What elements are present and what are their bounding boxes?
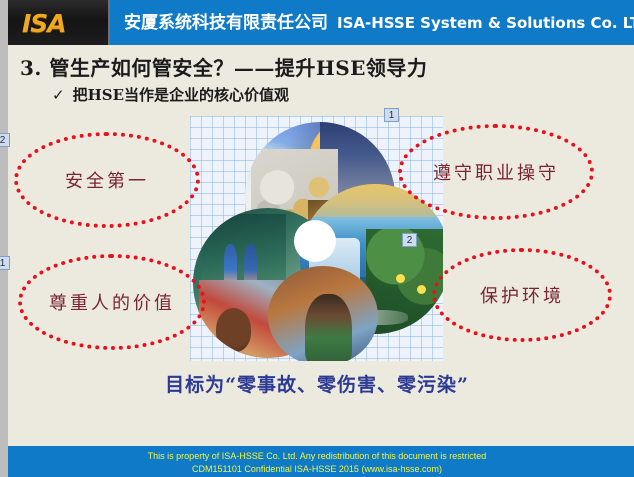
goal-caption: 目标为“零事故、零伤害、零污染”	[0, 370, 634, 397]
checkmark-icon: ✓	[52, 86, 65, 104]
footer-document-line: CDM151101 Confidential ISA-HSSE 2015 (ww…	[0, 464, 634, 474]
callout-respect-people-label: 尊重人的价值	[49, 289, 175, 315]
callout-protect-environment: 保护环境	[432, 248, 612, 342]
page-subtitle-text: 把HSE当作是企业的核心价值观	[73, 86, 289, 104]
slide-footer: This is property of ISA-HSSE Co. Ltd. An…	[0, 446, 634, 477]
logo-panel: ISA	[0, 0, 110, 45]
left-edge-gutter	[0, 0, 8, 477]
isa-logo: ISA	[22, 9, 66, 38]
slide-header: ISA 安厦系统科技有限责任公司ISA-HSSE System & Soluti…	[0, 0, 634, 45]
page-title: 3. 管生产如何管安全？——提升HSE领导力	[20, 52, 427, 81]
company-title-cn: 安厦系统科技有限责任公司	[124, 13, 328, 33]
animation-badge-image-right[interactable]: 2	[402, 233, 417, 247]
animation-badge-image-top[interactable]: 1	[384, 108, 399, 122]
collage-center-hole	[294, 220, 336, 262]
child-photo	[305, 294, 351, 361]
callout-respect-people: 尊重人的价值	[18, 254, 206, 350]
callout-professional-ethics-label: 遵守职业操守	[433, 159, 559, 185]
company-title-en: ISA-HSSE System & Solutions Co. LTD	[337, 14, 634, 32]
callout-safety-first: 安全第一	[14, 132, 200, 228]
footer-copyright-line: This is property of ISA-HSSE Co. Ltd. An…	[0, 451, 634, 461]
flower-icon-2	[417, 285, 426, 294]
animation-badge-left-lower[interactable]: 1	[0, 256, 10, 270]
company-title: 安厦系统科技有限责任公司ISA-HSSE System & Solutions …	[124, 9, 634, 37]
callout-safety-first-label: 安全第一	[65, 167, 149, 193]
collage-circle-safety	[268, 266, 378, 361]
callout-professional-ethics: 遵守职业操守	[398, 124, 594, 220]
animation-badge-left-upper[interactable]: 2	[0, 133, 10, 147]
slide-canvas: ISA 安厦系统科技有限责任公司ISA-HSSE System & Soluti…	[0, 0, 634, 477]
callout-protect-environment-label: 保护环境	[480, 282, 564, 308]
person-face-left	[216, 308, 252, 352]
page-subtitle: ✓把HSE当作是企业的核心价值观	[52, 84, 289, 105]
flower-icon-1	[396, 274, 405, 283]
